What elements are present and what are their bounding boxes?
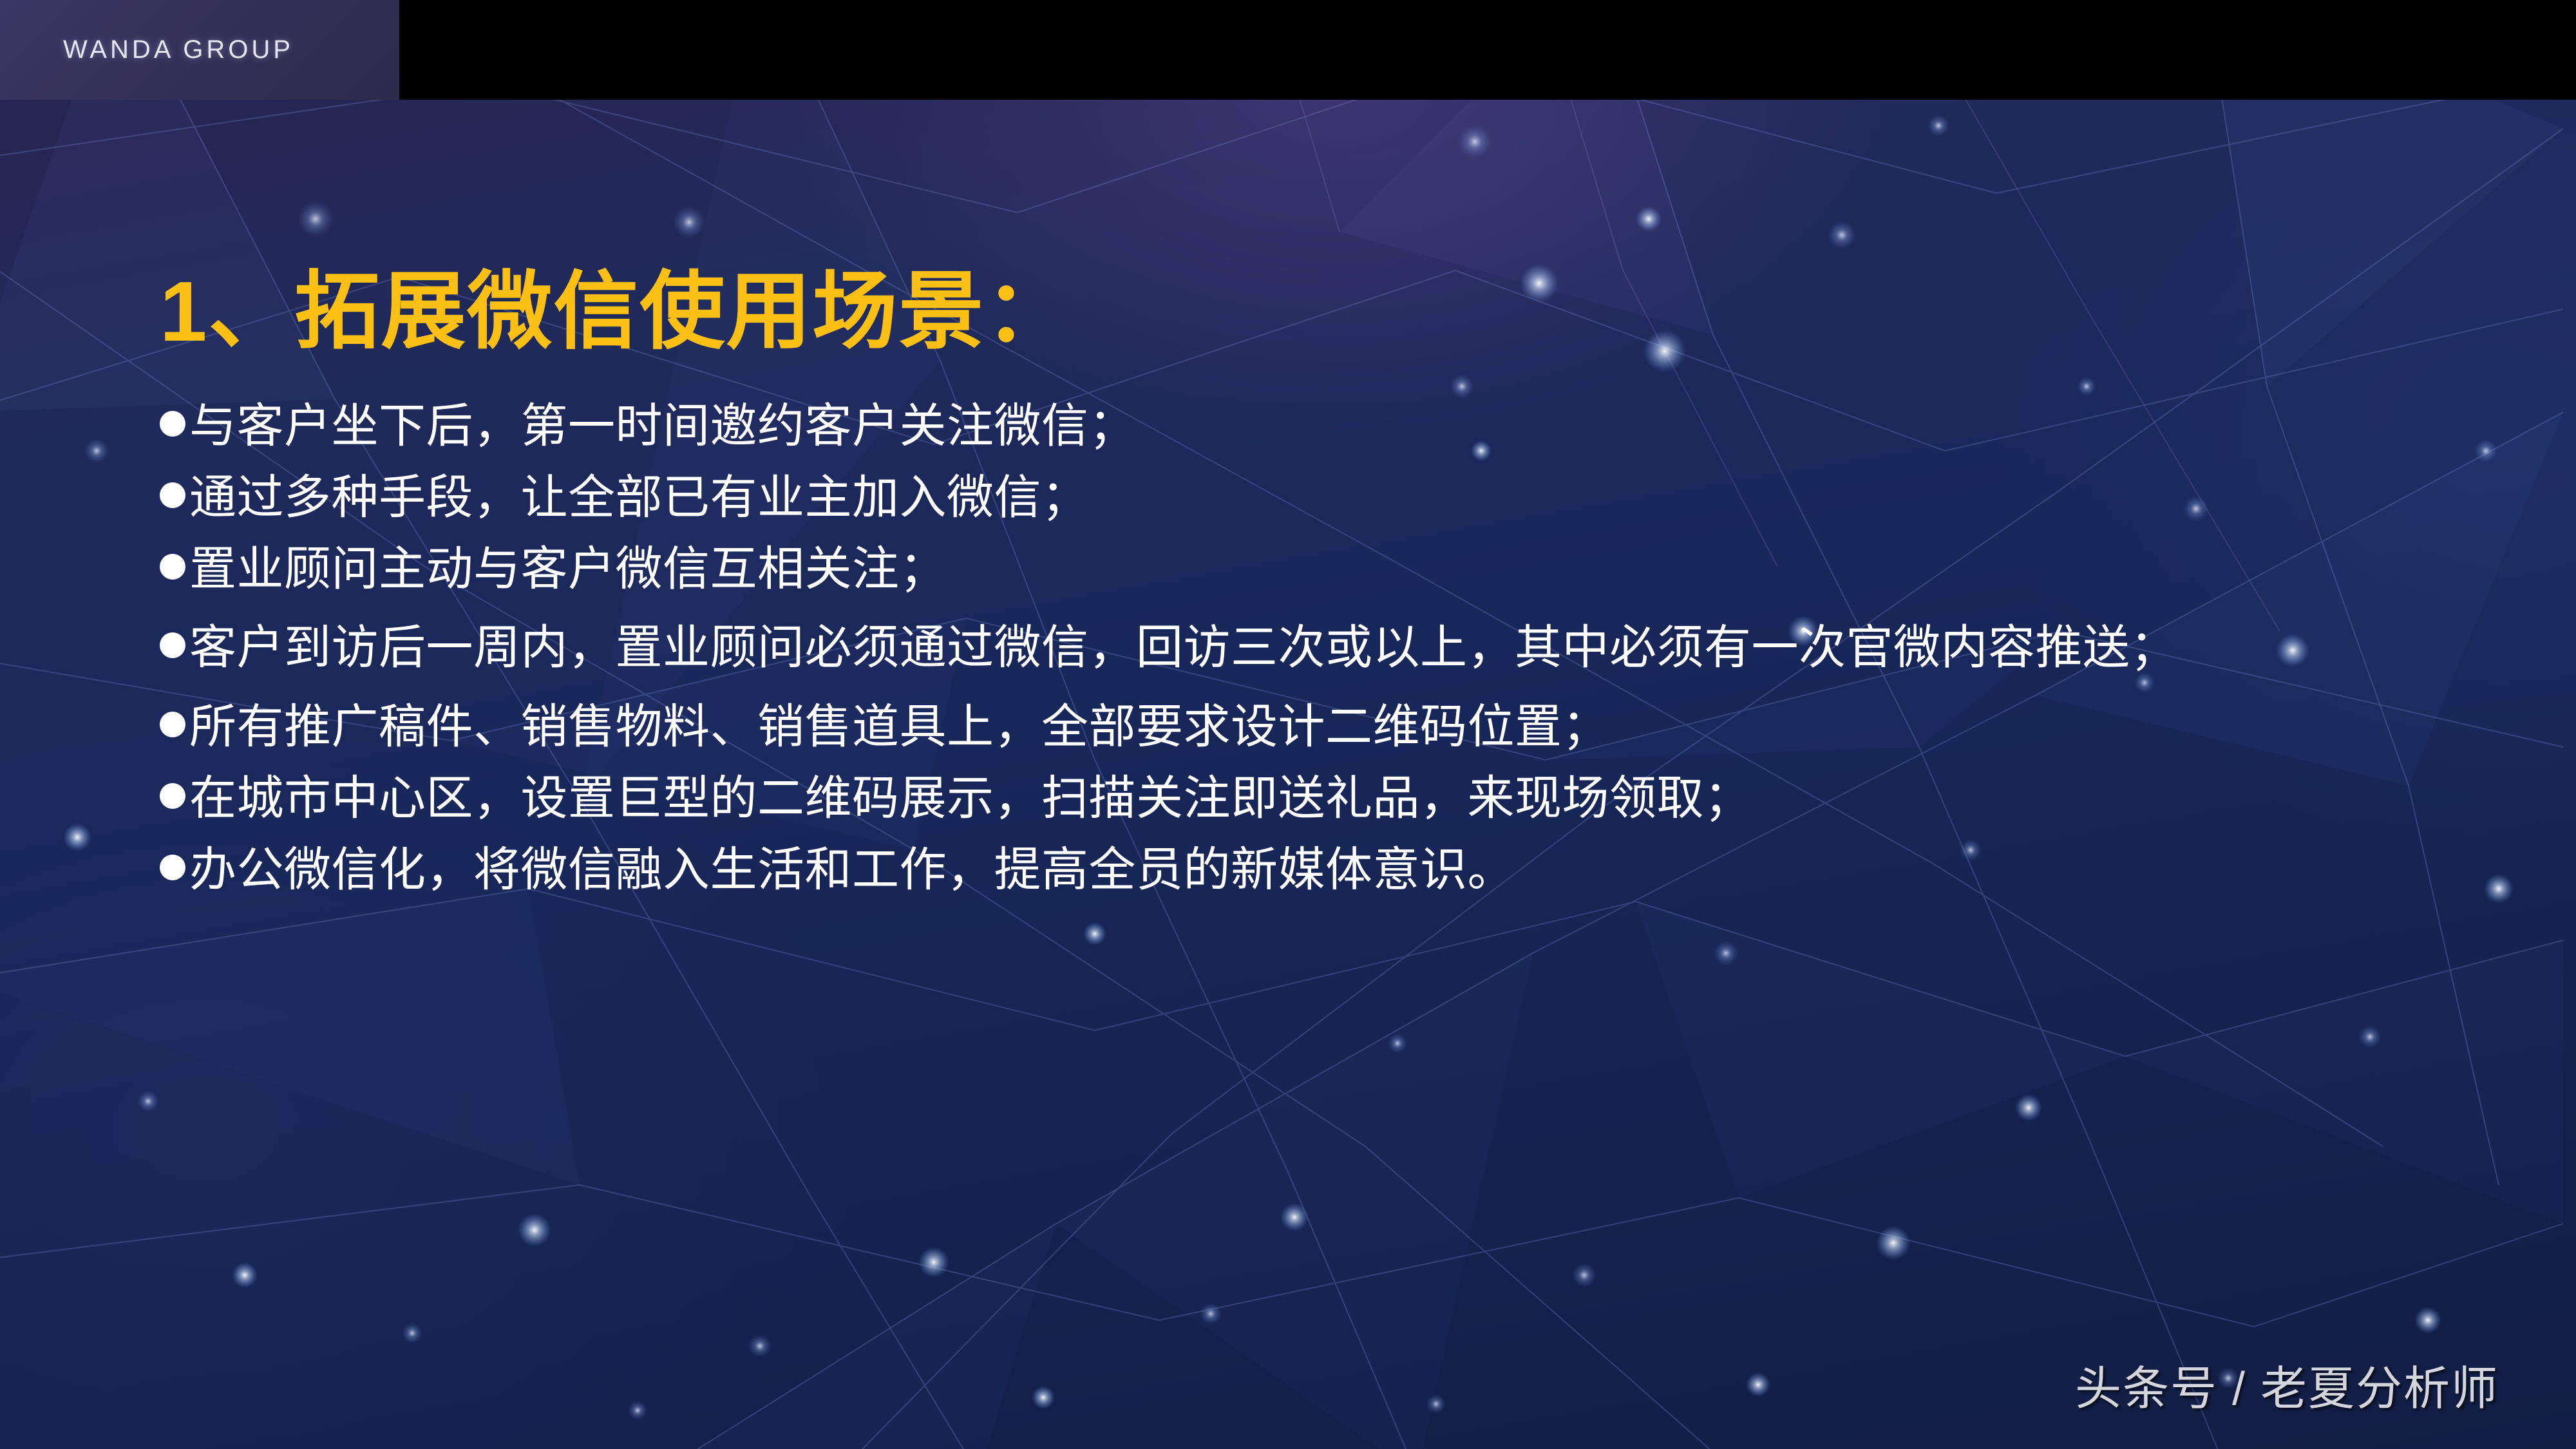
bullet-dot-icon [160, 482, 185, 508]
bullet-dot-icon [160, 554, 185, 580]
brand-name: WANDA GROUP [63, 35, 294, 64]
bullet-dot-icon [160, 411, 185, 437]
bullet-dot-icon [160, 632, 185, 658]
bullet-dot-icon [160, 783, 185, 809]
bullet-text-2: 通过多种手段，让全部已有业主加入微信； [189, 471, 1089, 524]
bullet-text-4: 客户到访后一周内，置业顾问必须通过微信，回访三次或以上，其中必须有一次官微内容推… [189, 621, 2177, 674]
bullet-text-1: 与客户坐下后，第一时间邀约客户关注微信； [189, 400, 1136, 452]
bullet-text-7: 办公微信化，将微信融入生活和工作，提高全员的新媒体意识。 [189, 844, 1515, 896]
bullet-dot-icon [160, 712, 185, 737]
bullet-text-5: 所有推广稿件、销售物料、销售道具上，全部要求设计二维码位置； [189, 701, 1609, 753]
slide-content: 1、拓展微信使用场景： 与客户坐下后，第一时间邀约客户关注微信； 通过多种手段，… [0, 100, 2576, 1449]
bullet-item-7: 办公微信化，将微信融入生活和工作，提高全员的新媒体意识。 [160, 846, 2427, 893]
bullet-item-5: 所有推广稿件、销售物料、销售道具上，全部要求设计二维码位置； [160, 703, 2427, 750]
bullet-text-3: 置业顾问主动与客户微信互相关注； [189, 543, 947, 595]
bullet-item-4: 客户到访后一周内，置业顾问必须通过微信，回访三次或以上，其中必须有一次官微内容推… [160, 617, 2427, 679]
bullet-item-2: 通过多种手段，让全部已有业主加入微信； [160, 474, 2427, 521]
brand-logo-box: WANDA GROUP [0, 0, 399, 100]
bullet-item-6: 在城市中心区，设置巨型的二维码展示，扫描关注即送礼品，来现场领取； [160, 775, 2427, 822]
bullet-item-3: 置业顾问主动与客户微信互相关注； [160, 545, 2427, 592]
watermark: 头条号 / 老夏分析师 [2075, 1350, 2499, 1418]
presentation-slide: WANDA GROUP 1、拓展微信使用场景： 与客户坐下后，第一时间邀约客户关… [0, 0, 2576, 1449]
slide-title: 1、拓展微信使用场景： [160, 267, 1071, 357]
bullet-list: 与客户坐下后，第一时间邀约客户关注微信； 通过多种手段，让全部已有业主加入微信；… [160, 402, 2427, 918]
bullet-dot-icon [160, 855, 185, 880]
bullet-text-6: 在城市中心区，设置巨型的二维码展示，扫描关注即送礼品，来现场领取； [189, 772, 1752, 824]
bullet-item-1: 与客户坐下后，第一时间邀约客户关注微信； [160, 402, 2427, 450]
